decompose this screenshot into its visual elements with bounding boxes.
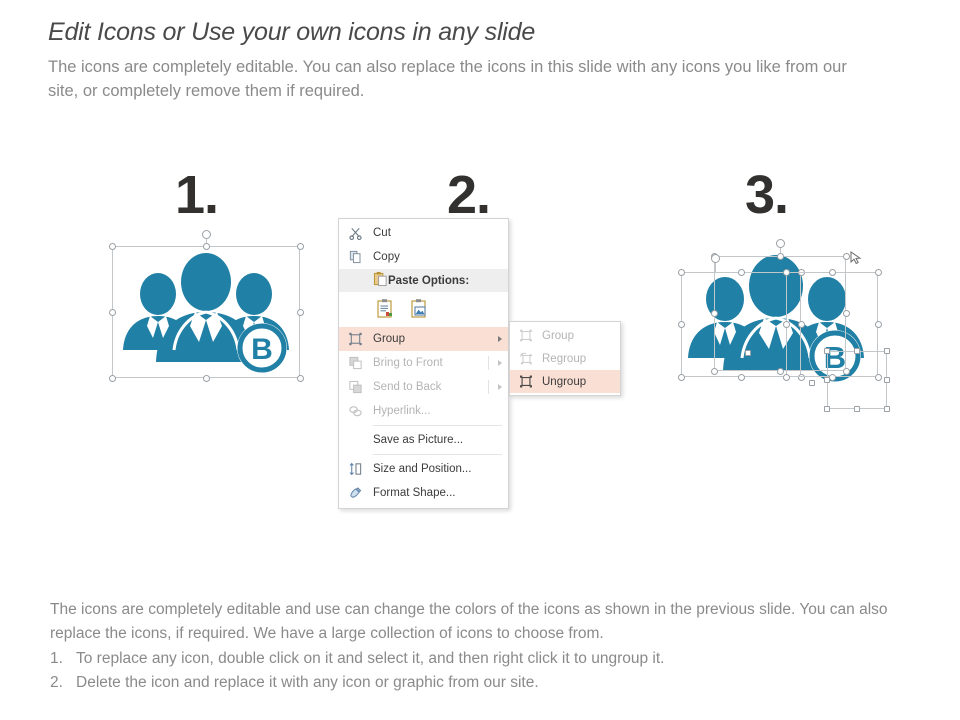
paste-keep-source-formatting-icon[interactable] (373, 296, 398, 321)
menu-item-label: Bring to Front (373, 357, 492, 369)
selection-handle-e-badge[interactable] (884, 377, 890, 383)
selection-handle-n-badge[interactable] (854, 348, 860, 354)
selection-handle-w-badge[interactable] (824, 377, 830, 383)
selection-handle-e-left[interactable] (798, 321, 805, 328)
list-item-number: 1. (50, 647, 76, 671)
list-item-text: Delete the icon and replace it with any … (76, 671, 539, 695)
selection-handle-nw-right[interactable] (783, 269, 790, 276)
chevron-right-icon (498, 360, 502, 366)
page-title: Edit Icons or Use your own icons in any … (48, 18, 928, 47)
submenu-item-label: Ungroup (542, 376, 614, 388)
selection-handle-se-1[interactable] (297, 375, 304, 382)
selection-handle-sw-left[interactable] (678, 374, 685, 381)
menu-item-label: Size and Position... (373, 463, 502, 475)
selection-handle-n-1[interactable] (203, 243, 210, 250)
rotation-handle-center[interactable] (776, 239, 785, 248)
list-item: 2. Delete the icon and replace it with a… (50, 671, 930, 695)
submenu-item-label: Group (542, 330, 614, 342)
selection-handle-n-right[interactable] (829, 269, 836, 276)
step-numeral-1: 1. (175, 168, 218, 222)
selection-handle-ne-right[interactable] (875, 269, 882, 276)
menu-item-send-to-back[interactable]: Send to Back (339, 375, 508, 399)
selection-handle-nw-left[interactable] (678, 269, 685, 276)
selection-handle-w-center[interactable] (711, 310, 718, 317)
selection-handle-sw-center[interactable] (711, 368, 718, 375)
hyperlink-icon (347, 403, 364, 420)
menu-item-copy[interactable]: Copy (339, 245, 508, 269)
page-subtitle: The icons are completely editable. You c… (48, 55, 878, 104)
selection-handle-sw-badge[interactable] (824, 406, 830, 412)
menu-item-paste-options: Paste Options: (339, 269, 508, 292)
menu-item-label: Save as Picture... (373, 434, 502, 446)
ungroup-icon (517, 373, 534, 390)
menu-separator (373, 454, 502, 455)
menu-divider (488, 356, 489, 370)
footer-list: 1. To replace any icon, double click on … (50, 647, 930, 695)
menu-item-cut[interactable]: Cut (339, 221, 508, 245)
menu-item-label: Group (373, 333, 492, 345)
submenu-item-group[interactable]: Group (510, 324, 620, 347)
chevron-right-icon (498, 336, 502, 342)
menu-item-group[interactable]: Group (339, 327, 508, 351)
submenu-item-label: Regroup (542, 353, 614, 365)
chevron-right-icon (498, 384, 502, 390)
selection-handle-ne-left[interactable] (798, 269, 805, 276)
menu-item-size-and-position[interactable]: Size and Position... (339, 457, 508, 481)
list-item-number: 2. (50, 671, 76, 695)
copy-icon (347, 249, 364, 266)
selection-handle-s-center[interactable] (777, 368, 784, 375)
team-group-icon-1[interactable]: B (112, 246, 300, 378)
selection-handle-sw-right[interactable] (783, 374, 790, 381)
menu-item-label: Cut (373, 227, 502, 239)
menu-item-label: Hyperlink... (373, 405, 502, 417)
selection-handle-e-1[interactable] (297, 309, 304, 316)
group-icon (347, 331, 364, 348)
selection-handle-nw-1[interactable] (109, 243, 116, 250)
menu-item-format-shape[interactable]: Format Shape... (339, 481, 508, 505)
rotation-handle-1[interactable] (202, 230, 211, 239)
bring-to-front-icon (347, 355, 364, 372)
slide-canvas: Edit Icons or Use your own icons in any … (0, 0, 960, 720)
menu-item-save-as-picture[interactable]: Save as Picture... (339, 428, 508, 452)
selection-handle-se-badge[interactable] (884, 406, 890, 412)
rotate-cursor-icon (849, 250, 865, 266)
selection-handle-collar-a[interactable] (809, 380, 815, 386)
icon-badge-letter: B (251, 333, 273, 366)
selection-handle-s-left[interactable] (738, 374, 745, 381)
paste-icon (373, 271, 388, 290)
footer: The icons are completely editable and us… (50, 598, 930, 695)
group-submenu[interactable]: Group Regroup (509, 321, 621, 396)
selection-handle-n-left[interactable] (738, 269, 745, 276)
menu-item-hyperlink[interactable]: Hyperlink... (339, 399, 508, 423)
menu-separator (373, 425, 502, 426)
submenu-item-regroup[interactable]: Regroup (510, 347, 620, 370)
selection-handle-s-badge[interactable] (854, 406, 860, 412)
menu-item-label: Copy (373, 251, 502, 263)
selection-handle-w-1[interactable] (109, 309, 116, 316)
menu-item-label: Format Shape... (373, 487, 502, 499)
selection-handle-se-center[interactable] (843, 368, 850, 375)
selection-handle-e-center[interactable] (843, 310, 850, 317)
group-icon (517, 327, 534, 344)
selection-handle-sw-1[interactable] (109, 375, 116, 382)
menu-divider (488, 380, 489, 394)
size-position-icon (347, 461, 364, 478)
header: Edit Icons or Use your own icons in any … (48, 18, 928, 104)
selection-handle-se-right[interactable] (875, 374, 882, 381)
selection-handle-e-right[interactable] (875, 321, 882, 328)
selection-handle-ne-1[interactable] (297, 243, 304, 250)
regroup-icon (517, 350, 534, 367)
selection-handle-n-center[interactable] (777, 253, 784, 260)
list-item: 1. To replace any icon, double click on … (50, 647, 930, 671)
selection-handle-w-right[interactable] (783, 321, 790, 328)
selection-handle-collar-b[interactable] (745, 350, 751, 356)
send-to-back-icon (347, 379, 364, 396)
selection-handle-se-left[interactable] (798, 374, 805, 381)
paste-picture-icon[interactable] (407, 296, 432, 321)
selection-handle-nw-badge[interactable] (824, 348, 830, 354)
selection-handle-ne-badge[interactable] (884, 348, 890, 354)
step-numeral-2: 2. (447, 168, 490, 222)
selection-handle-s-1[interactable] (203, 375, 210, 382)
scissors-icon (347, 225, 364, 242)
rotation-handle-left[interactable] (711, 254, 720, 263)
context-menu[interactable]: Cut Copy Paste Options: (338, 218, 509, 509)
format-shape-icon (347, 485, 364, 502)
submenu-item-ungroup[interactable]: Ungroup (510, 370, 620, 393)
menu-item-bring-to-front[interactable]: Bring to Front (339, 351, 508, 375)
menu-item-label: Paste Options: (388, 275, 469, 287)
selection-handle-w-left[interactable] (678, 321, 685, 328)
list-item-text: To replace any icon, double click on it … (76, 647, 664, 671)
paste-options-row (339, 292, 508, 327)
footer-paragraph: The icons are completely editable and us… (50, 598, 925, 645)
menu-item-label: Send to Back (373, 381, 492, 393)
step-numeral-3: 3. (745, 168, 788, 222)
